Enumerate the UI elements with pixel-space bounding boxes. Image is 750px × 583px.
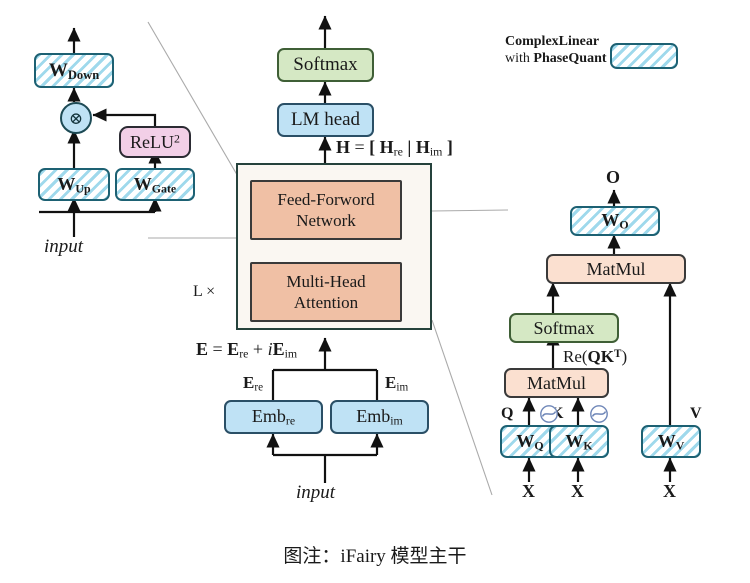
w-gate-box: WGate [115, 168, 195, 201]
embedding-imag-box: Embim [330, 400, 429, 434]
e-im-label: Eim [385, 374, 408, 394]
w-gate-label: WGate [134, 174, 176, 196]
matmul-bottom-label: MatMul [527, 373, 586, 393]
w-up-label: WUp [57, 174, 90, 196]
matmul-bottom-box: MatMul [504, 368, 609, 398]
e-re-label: Ere [243, 374, 263, 394]
legend-text: ComplexLinear with PhaseQuant [505, 34, 607, 67]
embedding-real-box: Embre [224, 400, 323, 434]
q-label: Q [501, 405, 513, 423]
backbone-input-label: input [296, 483, 335, 504]
layer-repeat-label: L × [193, 283, 215, 301]
w-q-label: WQ [516, 431, 543, 453]
feed-forward-network-box: Feed-Forword Network [250, 180, 402, 240]
attention-softmax-label: Softmax [534, 318, 595, 338]
w-up-box: WUp [38, 168, 110, 201]
re-qkt-label: Re(QKT) [563, 348, 627, 367]
x-input-v-label: X [663, 482, 676, 502]
emb-re-label: Embre [252, 406, 295, 428]
w-v-label: WV [658, 431, 685, 453]
hidden-state-label: H = [ Hre | Him ] [336, 138, 453, 159]
softmax-box: Softmax [277, 48, 374, 82]
w-o-label: WO [601, 210, 628, 232]
multiply-glyph: ⊗ [69, 110, 83, 127]
mha-label-line2: Attention [294, 293, 358, 312]
relu-squared-box: ReLU2 [119, 126, 191, 158]
legend-phasequant-term: PhaseQuant [533, 51, 606, 66]
ffn-label-line2: Network [296, 211, 355, 230]
mha-label-line1: Multi-Head [286, 272, 365, 291]
emb-im-label: Embim [356, 406, 403, 428]
ffn-input-label: input [44, 237, 83, 258]
v-label: V [690, 405, 702, 423]
w-v-box: WV [641, 425, 701, 458]
lm-head-label: LM head [291, 109, 360, 130]
elementwise-multiply-icon: ⊗ [60, 102, 92, 134]
legend-swatch [610, 43, 678, 69]
ffn-label-line1: Feed-Forword [277, 190, 374, 209]
lm-head-box: LM head [277, 103, 374, 137]
w-o-box: WO [570, 206, 660, 236]
softmax-label: Softmax [293, 54, 357, 75]
phase-quant-icon-k [589, 404, 609, 424]
attention-softmax-box: Softmax [509, 313, 619, 343]
w-down-box: WDown [34, 53, 114, 88]
w-down-label: WDown [49, 60, 99, 82]
w-k-box: WK [549, 425, 609, 458]
relu-label: ReLU2 [130, 132, 180, 152]
figure-canvas: WDown ReLU2 WUp WGate ⊗ input Softmax LM… [0, 0, 750, 583]
multi-head-attention-box: Multi-Head Attention [250, 262, 402, 322]
phase-quant-icon-q [539, 404, 559, 424]
w-k-label: WK [565, 431, 592, 453]
legend-line-1: ComplexLinear [505, 34, 607, 49]
embedding-sum-label: E = Ere + iEim [196, 340, 297, 361]
x-input-q-label: X [522, 482, 535, 502]
attention-output-label: O [606, 168, 620, 188]
matmul-top-box: MatMul [546, 254, 686, 284]
x-input-k-label: X [571, 482, 584, 502]
matmul-top-label: MatMul [586, 259, 645, 279]
figure-caption: 图注：iFairy 模型主干 [0, 541, 750, 568]
legend-line-2: with PhaseQuant [505, 51, 607, 66]
